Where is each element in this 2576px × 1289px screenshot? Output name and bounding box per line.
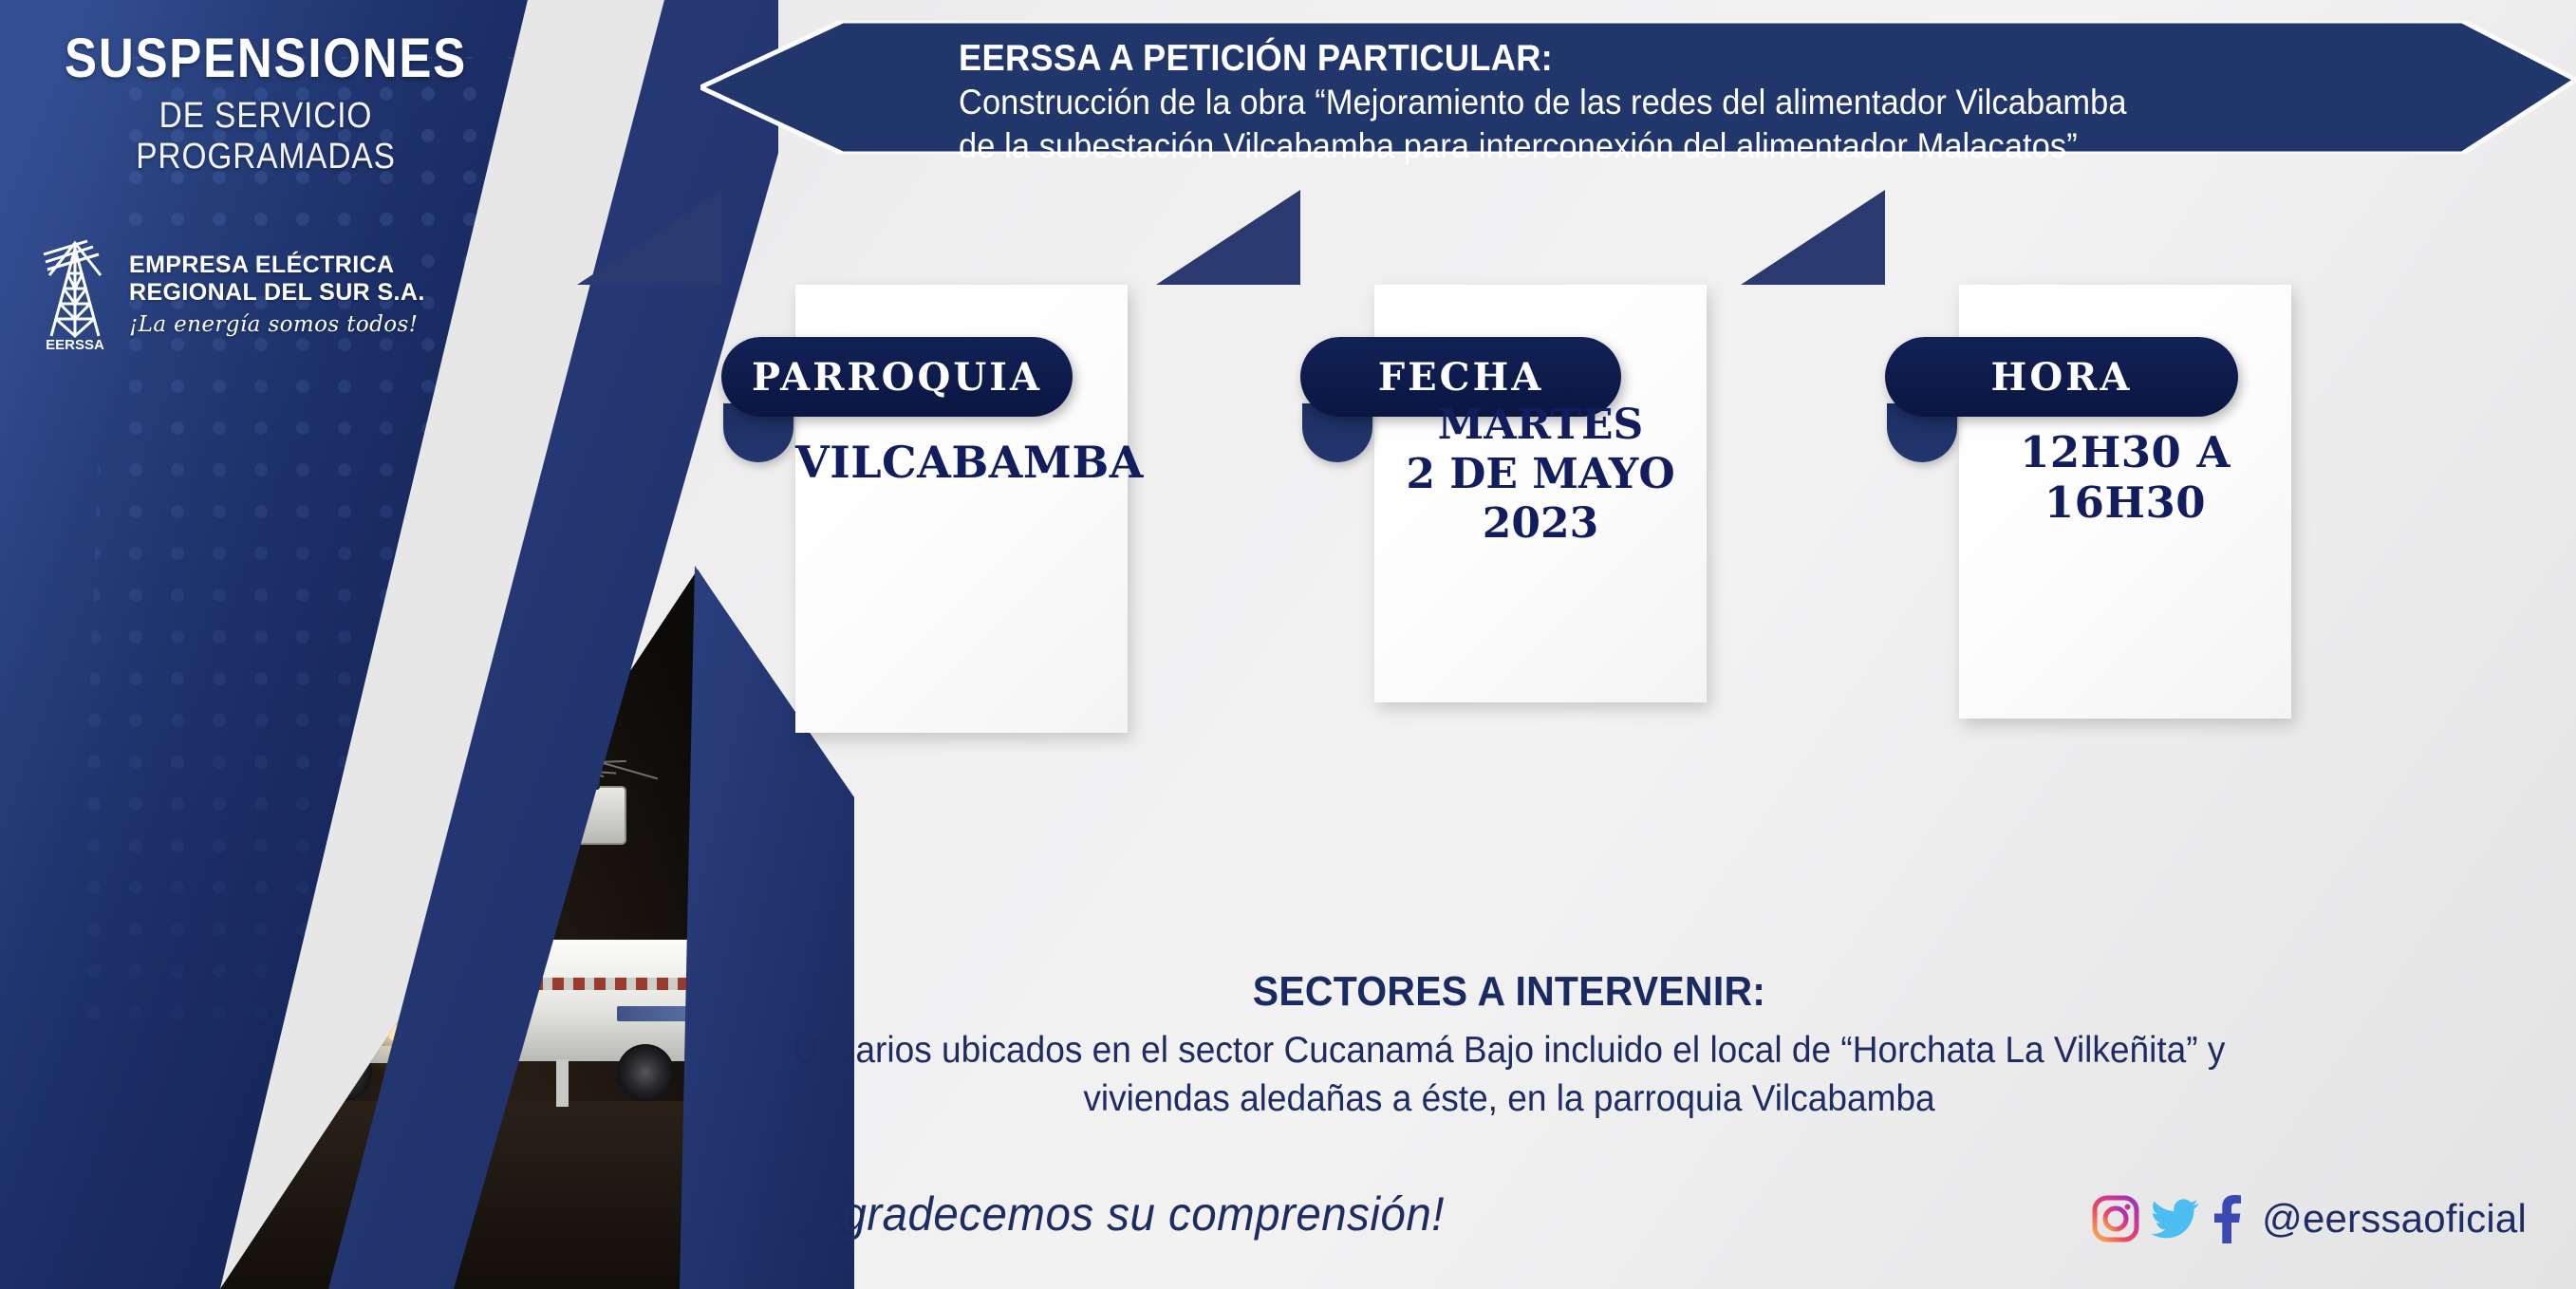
sectors-line1: Usuarios ubicados en el sector Cucanamá … [653,1027,2366,1074]
card-label: HORA [1991,355,2133,400]
thanks-message: ¡Agradecemos su comprensión! [795,1186,1445,1242]
eerssa-logo: EERSSA EMPRESA ELÉCTRICA REGIONAL DEL SU… [38,237,484,351]
banner-line2: de la subestación Vilcabamba para interc… [959,125,2330,167]
banner-title: EERSSA A PETICIÓN PARTICULAR: [959,38,2330,80]
headline-line2: DE SERVICIO PROGRAMADAS [32,96,500,177]
company-line1: EMPRESA ELÉCTRICA [129,252,425,279]
social-bar: @eerssaoficial [2091,1194,2527,1243]
sectors-section: SECTORES A INTERVENIR: Usuarios ubicados… [607,968,2411,1122]
twitter-icon[interactable] [2151,1198,2200,1240]
card-fold-corner [1741,190,1885,285]
card-value-fecha: MARTES 2 DE MAYO 2023 [1374,401,1707,549]
poster-canvas: SUSPENSIONES DE SERVICIO PROGRAMADAS EER… [0,0,2576,1289]
card-label: FECHA [1378,355,1544,400]
card-label: PARROQUIA [752,355,1042,400]
card-fold-corner [1156,190,1300,285]
info-cards: PARROQUIA VILCABAMBA FECHA MARTES 2 DE M… [721,285,2506,911]
card-label-pill-hora: HORA [1885,337,2238,417]
sectors-heading: SECTORES A INTERVENIR: [671,968,2348,1016]
poster-headline: SUSPENSIONES DE SERVICIO PROGRAMADAS [0,27,532,177]
sectors-line2: viviendas aledañas a éste, en la parroqu… [653,1075,2366,1122]
card-value-hora: 12H30 A 16H30 [1959,427,2291,528]
banner-line1: Construcción de la obra “Mejoramiento de… [959,82,2330,123]
social-handle[interactable]: @eerssaoficial [2262,1196,2527,1242]
company-line2: REGIONAL DEL SUR S.A. [129,279,425,307]
headline-line1: SUSPENSIONES [32,27,500,90]
card-fold-corner [577,190,721,285]
card-label-pill-parroquia: PARROQUIA [721,337,1073,417]
company-slogan: ¡La energía somos todos! [129,312,425,337]
instagram-icon[interactable] [2091,1194,2140,1243]
transmission-tower-icon: EERSSA [38,237,112,351]
announcement-banner: EERSSA A PETICIÓN PARTICULAR: Construcci… [700,21,2576,154]
logo-mark-text: EERSSA [46,337,104,351]
card-value-parroquia: VILCABAMBA [795,437,1128,488]
facebook-icon[interactable] [2211,1194,2243,1243]
